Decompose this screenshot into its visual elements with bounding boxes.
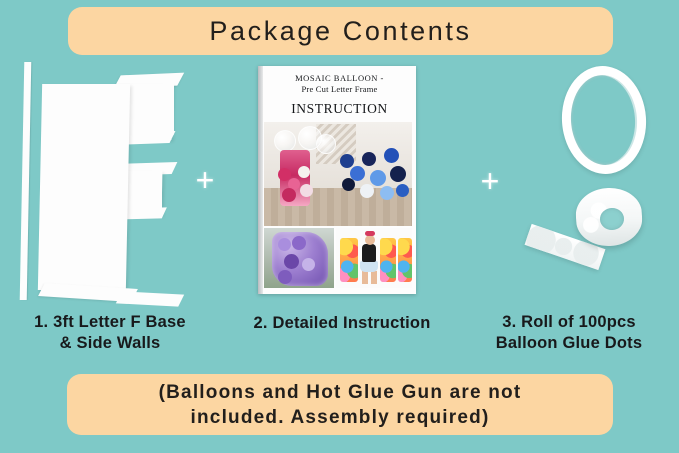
side-wall-strip-left bbox=[20, 62, 32, 300]
purple-balloon bbox=[278, 238, 291, 251]
caption-item-3: 3. Roll of 100pcs Balloon Glue Dots bbox=[462, 312, 676, 354]
white-balloon bbox=[298, 166, 310, 178]
blue-balloon bbox=[370, 170, 386, 186]
footer-note: (Balloons and Hot Glue Gun are not inclu… bbox=[67, 374, 613, 435]
purple-balloon bbox=[302, 258, 315, 271]
clear-balloon bbox=[316, 134, 336, 154]
letter-f-cardboard-frame bbox=[6, 58, 182, 306]
child-legs bbox=[362, 271, 377, 284]
blue-balloon bbox=[396, 184, 409, 197]
rainbow-letter-o bbox=[398, 238, 412, 282]
rainbow-letter-w bbox=[380, 238, 396, 282]
blue-balloon bbox=[380, 186, 394, 200]
page-title: Package Contents bbox=[68, 7, 613, 55]
child-with-rainbow-two-letters-photo bbox=[336, 228, 412, 288]
purple-balloon bbox=[292, 236, 306, 250]
child-skirt bbox=[360, 261, 378, 272]
package-contents-infographic: Package Contents + MOSAIC BALLOON - Pre … bbox=[0, 0, 679, 453]
instruction-booklet: MOSAIC BALLOON - Pre Cut Letter Frame IN… bbox=[258, 66, 416, 294]
pink-balloon bbox=[282, 188, 296, 202]
blue-balloon bbox=[340, 154, 354, 168]
white-balloon bbox=[300, 184, 313, 197]
booklet-title-line-3: INSTRUCTION bbox=[263, 101, 416, 117]
booklet-cover-heading: MOSAIC BALLOON - Pre Cut Letter Frame IN… bbox=[263, 71, 416, 117]
page-title-text: Package Contents bbox=[209, 16, 471, 47]
letter-f-base-body bbox=[38, 84, 130, 290]
caption-item-1-line-2: & Side Walls bbox=[4, 333, 216, 354]
plus-icon: + bbox=[192, 167, 218, 193]
caption-item-3-line-2: Balloon Glue Dots bbox=[462, 333, 676, 354]
caption-item-1-line-1: 1. 3ft Letter F Base bbox=[4, 312, 216, 333]
caption-item-2: 2. Detailed Instruction bbox=[236, 313, 448, 334]
pink-and-blue-balloon-letters-photo bbox=[264, 122, 412, 226]
glue-dots-roll bbox=[520, 60, 679, 300]
footer-note-line-2: included. Assembly required) bbox=[191, 405, 490, 430]
footer-note-line-1: (Balloons and Hot Glue Gun are not bbox=[159, 380, 522, 405]
white-balloon bbox=[360, 184, 374, 198]
purple-balloon bbox=[278, 270, 292, 284]
caption-item-3-line-1: 3. Roll of 100pcs bbox=[462, 312, 676, 333]
child-head bbox=[365, 235, 375, 245]
purple-balloon bbox=[284, 254, 299, 269]
navy-balloon bbox=[390, 166, 406, 182]
caption-item-2-line-1: 2. Detailed Instruction bbox=[236, 313, 448, 334]
side-wall-bottom-right bbox=[116, 291, 184, 306]
purple-balloon-letter-s-photo bbox=[264, 228, 334, 288]
booklet-title-line-2: Pre Cut Letter Frame bbox=[263, 84, 416, 94]
child-top bbox=[362, 244, 376, 262]
glue-dots-ring bbox=[558, 63, 649, 177]
child-hair-bow bbox=[365, 231, 375, 236]
blue-balloon bbox=[384, 148, 399, 163]
side-wall-top-right bbox=[163, 81, 174, 134]
caption-item-1: 1. 3ft Letter F Base & Side Walls bbox=[4, 312, 216, 354]
clear-balloon bbox=[274, 130, 296, 152]
booklet-photo-collage bbox=[264, 122, 412, 288]
navy-balloon bbox=[362, 152, 376, 166]
booklet-title-line-1: MOSAIC BALLOON - bbox=[263, 73, 416, 83]
plus-icon: + bbox=[477, 168, 503, 194]
navy-balloon bbox=[342, 178, 355, 191]
blue-balloon-letters-one bbox=[340, 144, 410, 206]
rainbow-letter-t bbox=[340, 238, 358, 282]
